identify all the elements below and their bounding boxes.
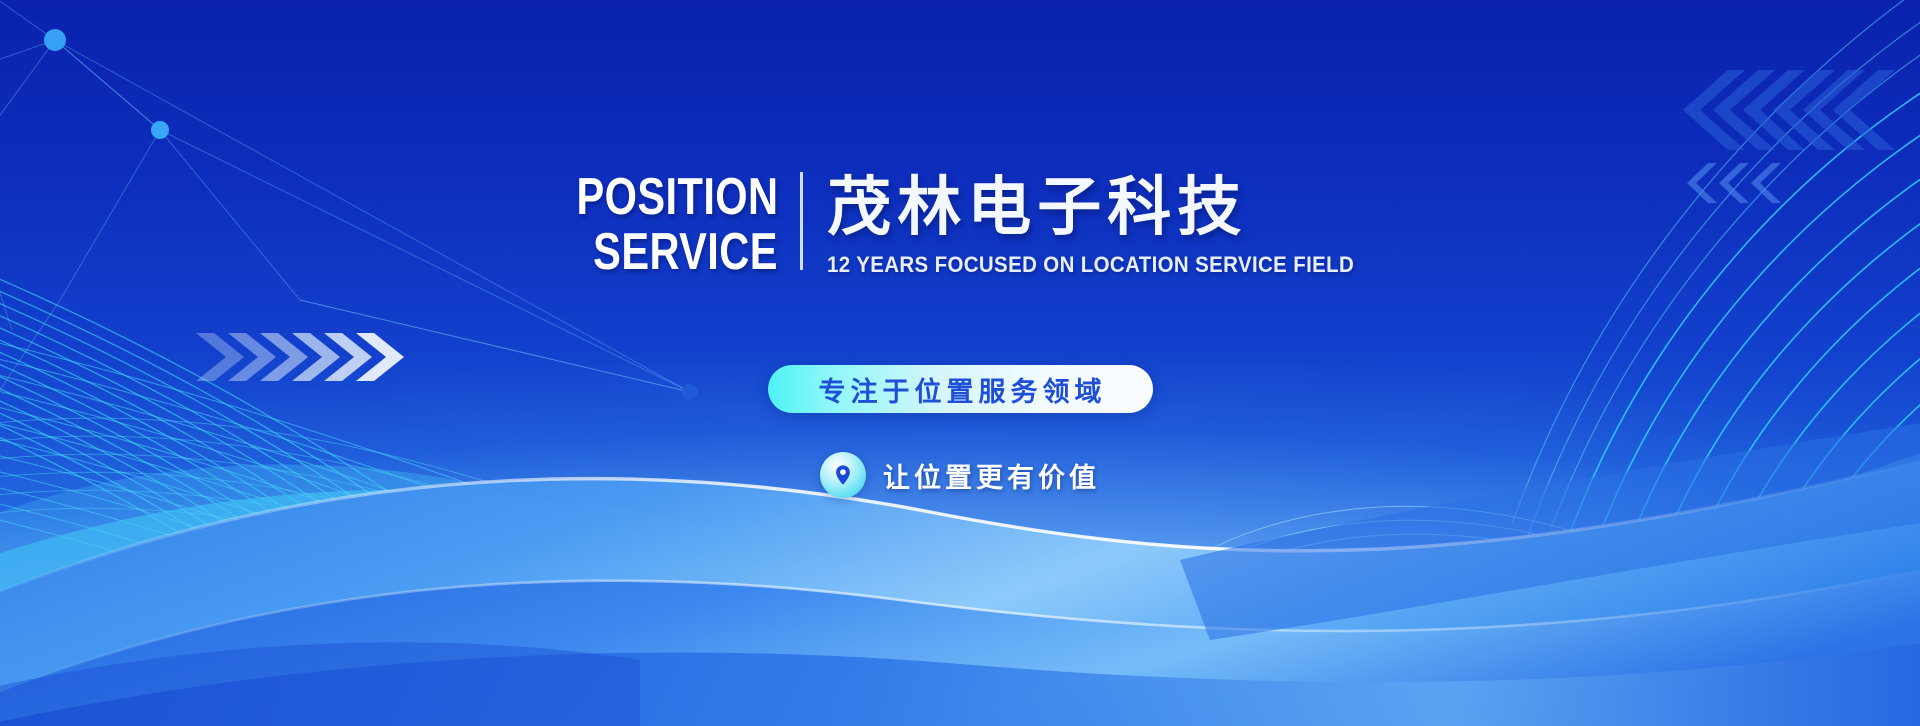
location-pin-badge xyxy=(820,452,866,498)
chinese-brand-stack: 茂林电子科技 12 YEARS FOCUSED ON LOCATION SERV… xyxy=(803,168,1394,280)
banner-content: POSITION SERVICE 茂林电子科技 12 YEARS FOCUSED… xyxy=(0,0,1920,726)
slogan-pill-row: 专注于位置服务领域 xyxy=(0,365,1920,413)
english-brand-stack: POSITION SERVICE xyxy=(526,168,800,280)
hero-banner: POSITION SERVICE 茂林电子科技 12 YEARS FOCUSED… xyxy=(0,0,1920,726)
title-divider xyxy=(800,172,803,270)
english-brand-line-2: SERVICE xyxy=(594,225,779,280)
slogan-pill[interactable]: 专注于位置服务领域 xyxy=(768,365,1153,413)
english-brand-line-1: POSITION xyxy=(576,170,778,225)
tagline-row: 让位置更有价值 xyxy=(0,452,1920,498)
tagline-label: 让位置更有价值 xyxy=(883,456,1100,495)
location-pin-icon xyxy=(831,463,855,487)
company-name: 茂林电子科技 xyxy=(827,170,1394,244)
title-block: POSITION SERVICE 茂林电子科技 12 YEARS FOCUSED… xyxy=(0,168,1920,280)
english-subtitle: 12 YEARS FOCUSED ON LOCATION SERVICE FIE… xyxy=(827,252,1354,278)
slogan-pill-label: 专注于位置服务领域 xyxy=(814,370,1107,409)
